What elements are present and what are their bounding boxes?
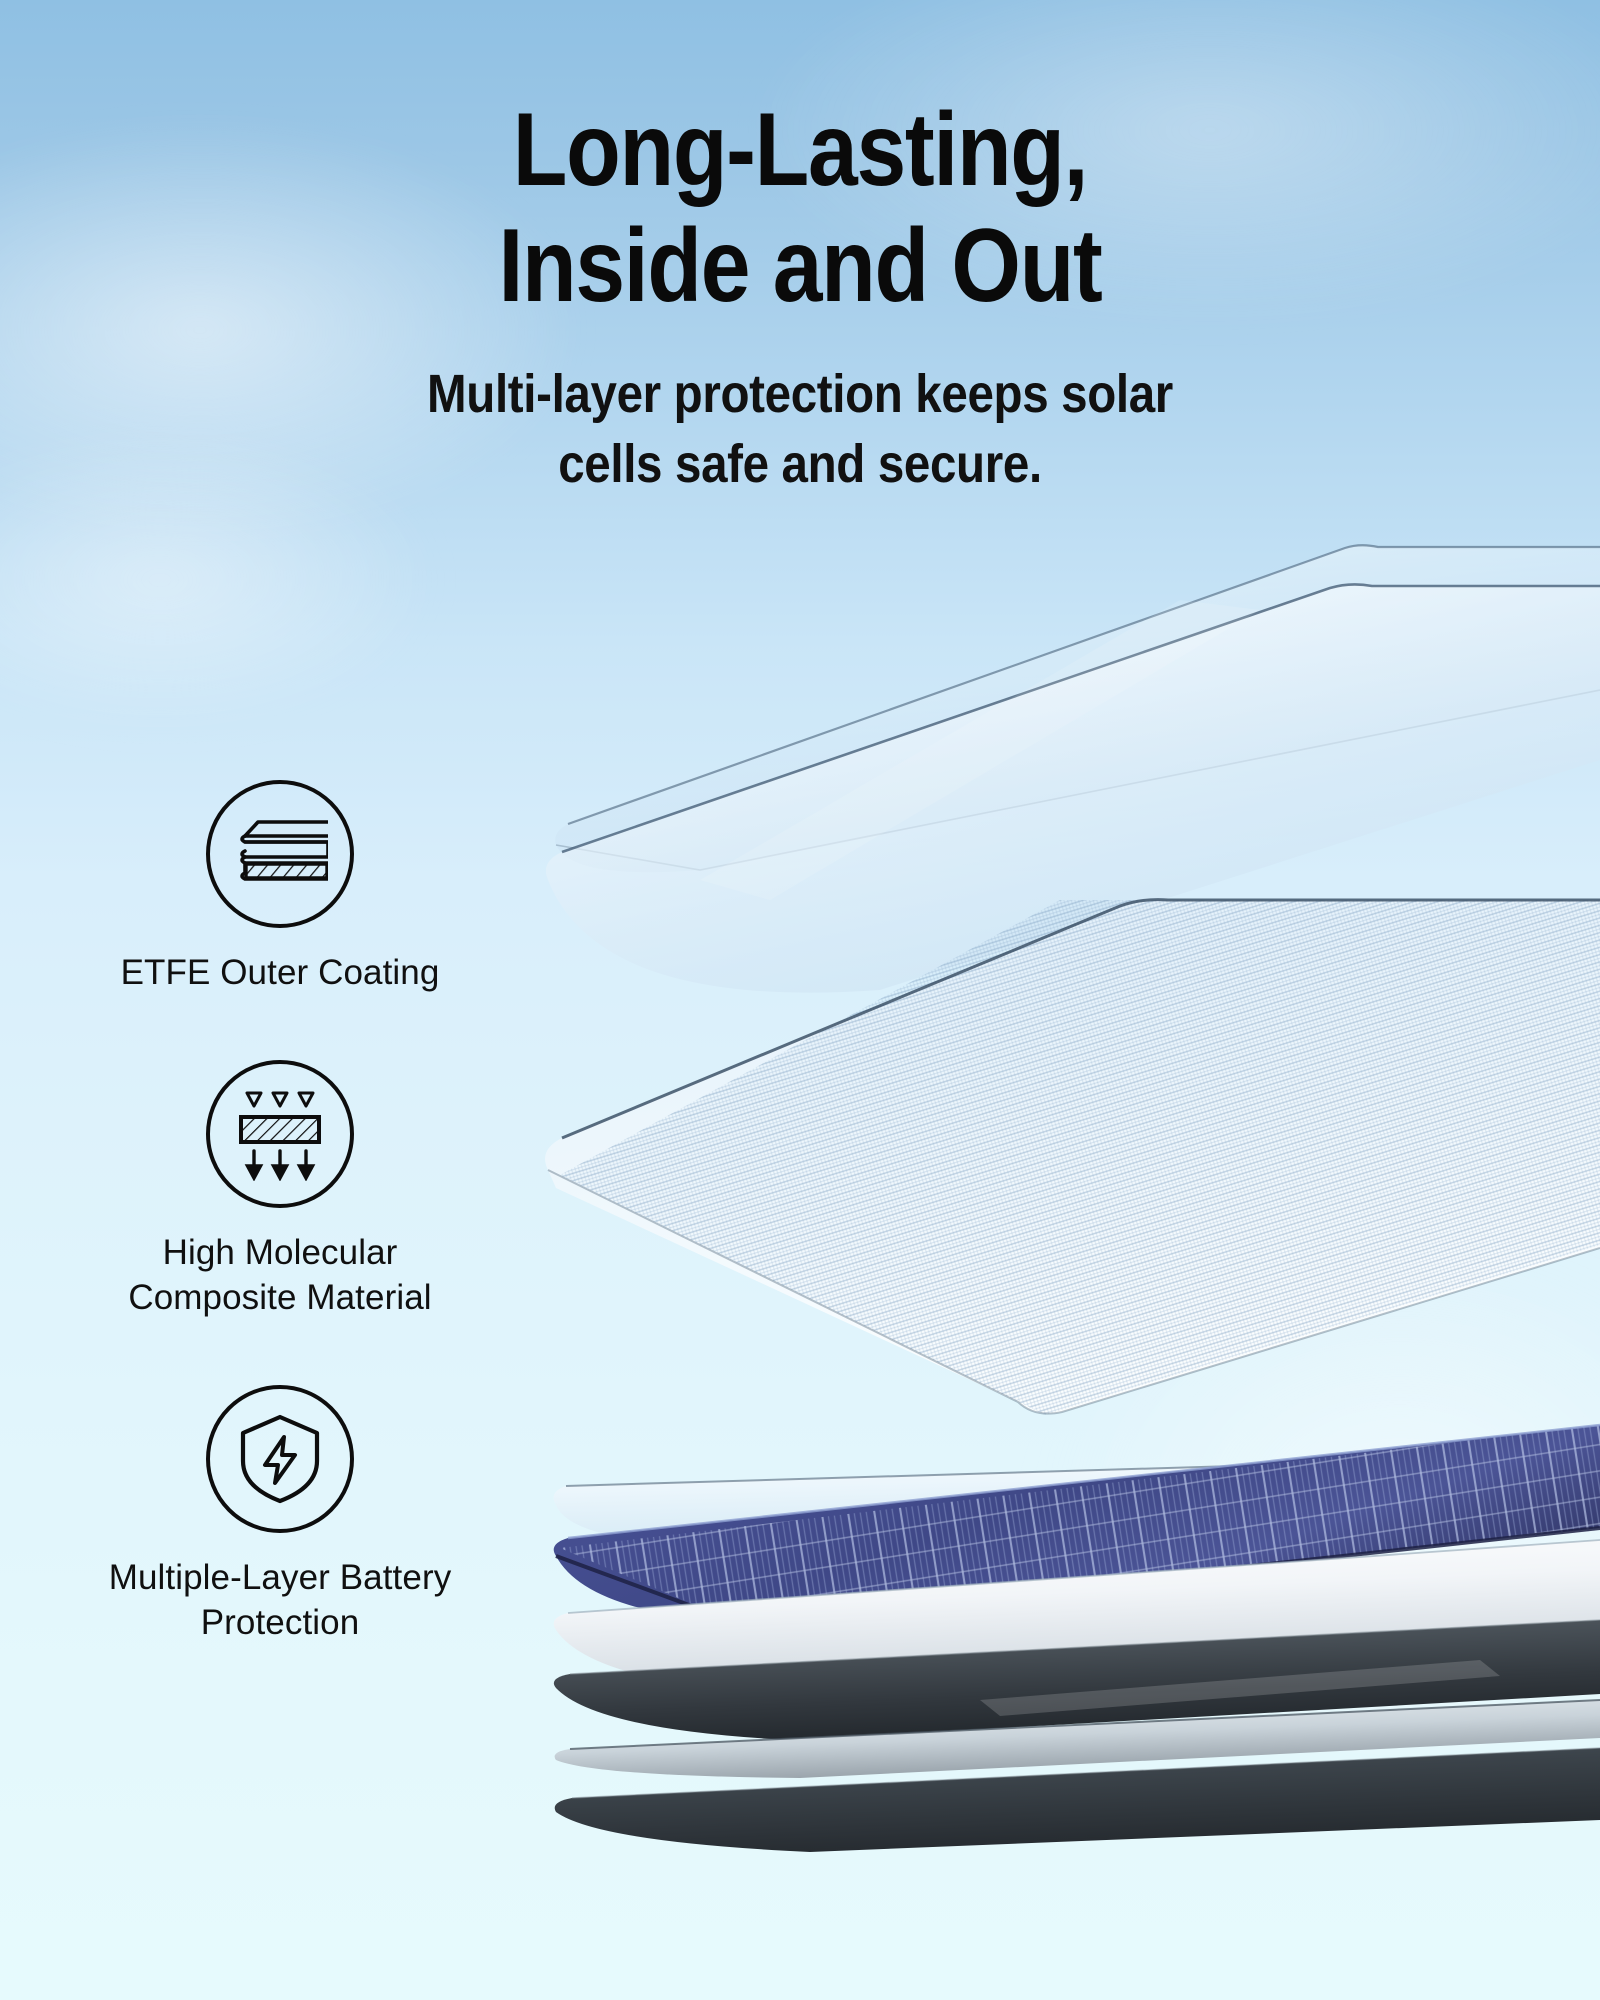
feature-item-battery-protection: Multiple-Layer Battery Protection	[0, 1385, 560, 1646]
feature-label: Multiple-Layer Battery Protection	[0, 1555, 560, 1646]
product-feature-poster: Long-Lasting, Inside and Out Multi-layer…	[0, 0, 1600, 2000]
layer-composite-woven-sheet	[520, 880, 1600, 1440]
cloud-haze-lower-right	[1050, 1250, 1600, 1770]
feature-item-etfe-outer-coating: ETFE Outer Coating	[0, 780, 560, 996]
feature-list: ETFE Outer Coating	[0, 780, 560, 1646]
specular-highlights	[700, 600, 1500, 1716]
shield-bolt-icon	[206, 1385, 354, 1533]
layer-etfe-top-sheet	[555, 545, 1600, 872]
feature-label: ETFE Outer Coating	[0, 950, 560, 996]
subtitle-line-1: Multi-layer protection keeps solar	[96, 325, 1504, 429]
page-title-line-2: Inside and Out	[112, 208, 1488, 324]
layer-backsheet	[554, 1620, 1600, 1740]
layer-base-thin-film	[555, 1700, 1600, 1778]
layer-solar-cell-array	[540, 1400, 1600, 1650]
feature-label: High Molecular Composite Material	[0, 1230, 560, 1321]
layer-encapsulant-sheet	[554, 1455, 1600, 1545]
absorption-layer-icon	[206, 1060, 354, 1208]
page-title-line-1: Long-Lasting,	[112, 92, 1488, 208]
subtitle-line-2: cells safe and secure.	[96, 429, 1504, 499]
layer-base-substrate	[555, 1748, 1600, 1852]
layers-stack-icon	[206, 780, 354, 928]
headline-block: Long-Lasting, Inside and Out Multi-layer…	[0, 92, 1600, 499]
layer-etfe-second-sheet	[546, 584, 1600, 992]
feature-item-high-molecular-composite: High Molecular Composite Material	[0, 1060, 560, 1321]
layer-rear-encapsulant-sheet	[554, 1540, 1600, 1692]
